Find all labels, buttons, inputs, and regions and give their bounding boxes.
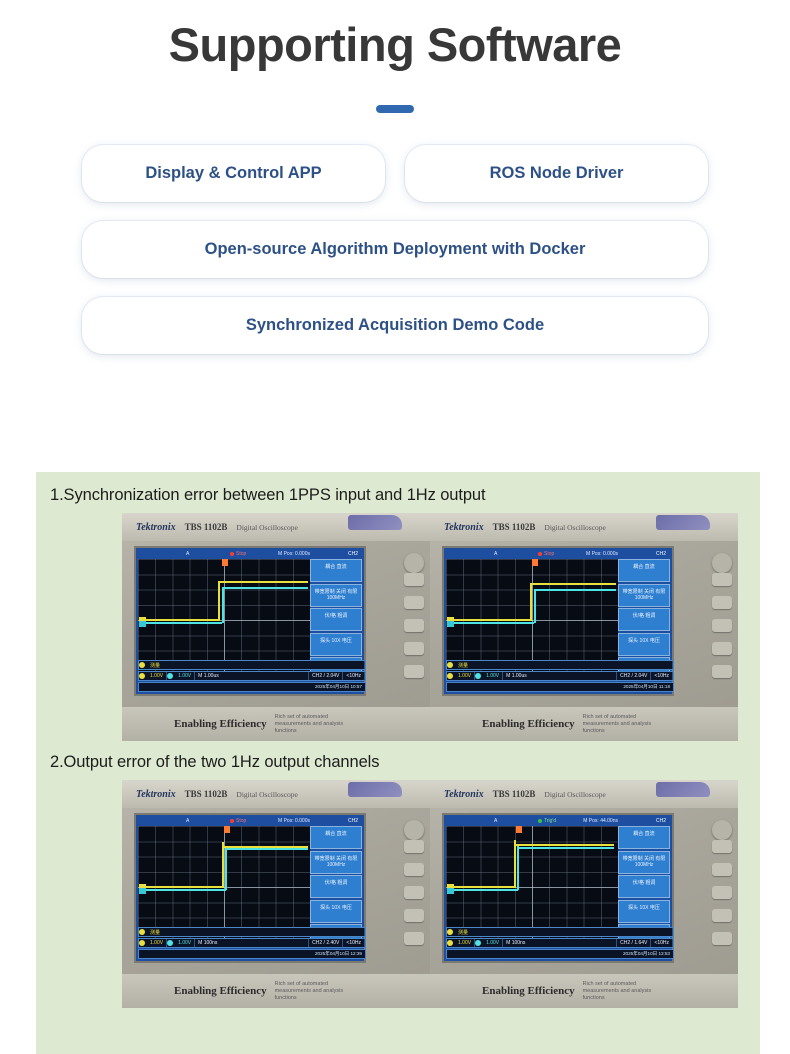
scope-screen-topbar: A Stop M Pos: 0.000s CH2 bbox=[138, 550, 362, 559]
scope-type-label: Digital Oscilloscope bbox=[236, 523, 297, 532]
ch1-trace-high bbox=[218, 581, 308, 583]
supporting-software-page: Supporting Software Display & Control AP… bbox=[0, 0, 790, 1054]
measure-label: 测量 bbox=[455, 661, 673, 669]
feature-card-row-1: Display & Control APP ROS Node Driver bbox=[82, 145, 708, 202]
timebase-value: M 1.00us bbox=[195, 672, 309, 680]
scope-datetime: 2025年04月10日 12:39 bbox=[138, 949, 366, 959]
scope-spec-badge bbox=[348, 515, 402, 530]
scope-menu-item[interactable]: 耦合 直流 bbox=[618, 559, 670, 582]
scope-tagline: Enabling Efficiency bbox=[174, 985, 267, 997]
page-title: Supporting Software bbox=[0, 18, 790, 72]
ch1-indicator-icon bbox=[139, 940, 145, 946]
scope-bezel-button[interactable] bbox=[404, 573, 424, 586]
feature-card-label: Synchronized Acquisition Demo Code bbox=[246, 316, 544, 335]
scope-screen-topbar: A Stop M Pos: 0.000s CH2 bbox=[446, 550, 670, 559]
ch1-volts-div: 1.00V bbox=[455, 939, 475, 947]
scope-bezel-top: Tektronix TBS 1102B Digital Oscilloscope bbox=[122, 513, 430, 541]
trigger-position-marker bbox=[516, 826, 522, 833]
scope-top-knob[interactable] bbox=[404, 553, 424, 573]
scope-screen: A Stop M Pos: 0.000s CH2 bbox=[442, 546, 674, 696]
trigger-status-icon bbox=[230, 819, 234, 823]
ch1-volts-div: 1.00V bbox=[147, 672, 167, 680]
scope-spec-badge bbox=[348, 782, 402, 797]
scope-status-bar: 测量 1.00V 1.00V M 100ns CH2 / 1.64V <10Hz bbox=[446, 927, 674, 959]
scope-button-column bbox=[686, 547, 732, 733]
measure-label: 测量 bbox=[455, 928, 673, 936]
scope-tagline: Enabling Efficiency bbox=[174, 718, 267, 730]
scope-button-column bbox=[378, 547, 424, 733]
ch2-indicator-icon bbox=[475, 673, 481, 679]
ch1-volts-div: 1.00V bbox=[455, 672, 475, 680]
trigger-frequency-value: <10Hz bbox=[343, 672, 365, 680]
ch1-indicator-icon bbox=[447, 673, 453, 679]
trigger-position-marker bbox=[224, 826, 230, 833]
ch2-ground-marker bbox=[447, 888, 454, 894]
scope-measure-row: 测量 bbox=[446, 660, 674, 670]
scope-bezel-button[interactable] bbox=[404, 642, 424, 655]
ch2-trace-low bbox=[454, 889, 518, 891]
section-heading-1: 1.Synchronization error between 1PPS inp… bbox=[36, 486, 760, 505]
ch2-trace-low bbox=[146, 622, 222, 624]
scope-bezel-button[interactable] bbox=[712, 573, 732, 586]
scope-type-label: Digital Oscilloscope bbox=[544, 523, 605, 532]
scope-menu-item[interactable]: 伏/格 粗调 bbox=[310, 875, 362, 898]
active-channel-tag: CH2 bbox=[348, 551, 358, 557]
scope-datetime: 2025年04月10日 11:18 bbox=[446, 682, 674, 692]
scope-a-marker: A bbox=[494, 551, 497, 557]
measure-label: 测量 bbox=[147, 928, 365, 936]
demo-results-panel: 1.Synchronization error between 1PPS inp… bbox=[36, 472, 760, 1054]
ch1-trace-high bbox=[530, 583, 616, 585]
scope-menu-item[interactable]: 伏/格 粗调 bbox=[310, 608, 362, 631]
scope-menu-item[interactable]: 探头 10X 电压 bbox=[618, 633, 670, 656]
horizontal-position-label: M Pos: 44.00ns bbox=[583, 818, 618, 824]
scope-bezel-button[interactable] bbox=[404, 596, 424, 609]
scope-screen: A Stop M Pos: 0.000s CH2 bbox=[134, 546, 366, 696]
ch2-indicator-icon bbox=[167, 940, 173, 946]
trigger-frequency-value: <10Hz bbox=[651, 939, 673, 947]
scope-bezel-top: Tektronix TBS 1102B Digital Oscilloscope bbox=[430, 513, 738, 541]
feature-card-display-control-app[interactable]: Display & Control APP bbox=[82, 145, 385, 202]
ch1-trace-high bbox=[514, 844, 614, 846]
trigger-source-value: CH2 / 1.64V bbox=[617, 939, 651, 947]
scope-bezel-button[interactable] bbox=[404, 840, 424, 853]
oscilloscope-photo-1: Tektronix TBS 1102B Digital Oscilloscope… bbox=[122, 513, 430, 741]
scope-menu-item[interactable]: 耦合 直流 bbox=[310, 559, 362, 582]
timebase-value: M 1.00us bbox=[503, 672, 617, 680]
scope-menu-item[interactable]: 伏/格 粗调 bbox=[618, 608, 670, 631]
ch2-indicator-icon bbox=[475, 940, 481, 946]
scope-bezel-button[interactable] bbox=[404, 863, 424, 876]
scope-measure-row: 测量 bbox=[138, 660, 366, 670]
ch2-volts-div: 1.00V bbox=[483, 939, 503, 947]
trigger-frequency-value: <10Hz bbox=[651, 672, 673, 680]
scope-type-label: Digital Oscilloscope bbox=[544, 790, 605, 799]
scope-menu-item[interactable]: 耦合 直流 bbox=[310, 826, 362, 849]
scope-screen: A Stop M Pos: 0.000s CH2 bbox=[134, 813, 366, 963]
scope-brand-label: Tektronix bbox=[444, 789, 484, 800]
scope-bezel-button[interactable] bbox=[404, 909, 424, 922]
feature-card-label: Display & Control APP bbox=[145, 164, 321, 183]
scope-menu-item[interactable]: 探头 10X 电压 bbox=[310, 900, 362, 923]
scope-menu-item[interactable]: 伏/格 粗调 bbox=[618, 875, 670, 898]
trigger-status-icon bbox=[538, 552, 542, 556]
ch2-volts-div: 1.00V bbox=[175, 672, 195, 680]
ch2-trace-high bbox=[225, 848, 308, 850]
scope-menu-item[interactable]: 带宽限制 关闭 有限 100MHz bbox=[310, 584, 362, 607]
scope-top-knob[interactable] bbox=[712, 553, 732, 573]
scope-bezel-button[interactable] bbox=[712, 909, 732, 922]
horizontal-position-label: M Pos: 0.000s bbox=[278, 818, 310, 824]
ch1-trace-low bbox=[454, 886, 516, 888]
active-channel-tag: CH2 bbox=[656, 551, 666, 557]
trigger-status-label: Trig'd bbox=[544, 818, 556, 824]
ch1-indicator-icon bbox=[139, 929, 145, 935]
feature-card-row-3: Synchronized Acquisition Demo Code bbox=[82, 297, 708, 354]
trigger-status-label: Stop bbox=[236, 818, 246, 824]
scope-status-bar: 测量 1.00V 1.00V M 1.00us CH2 / 2.04V <10H… bbox=[446, 660, 674, 692]
ch1-trace-edge bbox=[530, 583, 532, 621]
timebase-value: M 100ns bbox=[195, 939, 309, 947]
scope-a-marker: A bbox=[494, 818, 497, 824]
scope-button-column bbox=[686, 814, 732, 1000]
ch2-trace-high bbox=[222, 587, 308, 589]
scope-menu-item[interactable]: 带宽限制 关闭 有限 100MHz bbox=[618, 584, 670, 607]
ch2-trace-edge bbox=[534, 589, 536, 623]
scope-bezel-button[interactable] bbox=[404, 665, 424, 678]
scope-settings-row: 1.00V 1.00V M 100ns CH2 / 1.64V <10Hz bbox=[446, 938, 674, 948]
trigger-status-label: Stop bbox=[544, 551, 554, 557]
scope-a-marker: A bbox=[186, 818, 189, 824]
trigger-position-marker bbox=[532, 559, 538, 566]
ch1-indicator-icon bbox=[139, 662, 145, 668]
ch2-trace-edge bbox=[517, 846, 519, 890]
ch1-trace-edge bbox=[222, 842, 224, 888]
trigger-status-icon bbox=[538, 819, 542, 823]
scope-settings-row: 1.00V 1.00V M 1.00us CH2 / 2.04V <10Hz bbox=[138, 671, 366, 681]
scope-bezel-bottom: Enabling Efficiency Rich set of automate… bbox=[122, 974, 430, 1008]
scope-bezel-button[interactable] bbox=[712, 863, 732, 876]
scope-settings-row: 1.00V 1.00V M 1.00us CH2 / 2.04V <10Hz bbox=[446, 671, 674, 681]
scope-measure-row: 测量 bbox=[138, 927, 366, 937]
scope-bezel-button[interactable] bbox=[712, 932, 732, 945]
scope-bezel-top: Tektronix TBS 1102B Digital Oscilloscope bbox=[430, 780, 738, 808]
trigger-status-label: Stop bbox=[236, 551, 246, 557]
ch2-trace-high bbox=[534, 589, 616, 591]
scope-screen: A Trig'd M Pos: 44.00ns CH2 bbox=[442, 813, 674, 963]
trigger-position-marker bbox=[222, 559, 228, 566]
scope-a-marker: A bbox=[186, 551, 189, 557]
ch2-volts-div: 1.00V bbox=[175, 939, 195, 947]
timebase-value: M 100ns bbox=[503, 939, 617, 947]
ch2-trace-low bbox=[454, 622, 534, 624]
oscilloscope-photo-3: Tektronix TBS 1102B Digital Oscilloscope… bbox=[122, 780, 430, 1008]
scope-bezel-button[interactable] bbox=[712, 840, 732, 853]
scope-bezel-button[interactable] bbox=[712, 886, 732, 899]
trigger-status-icon bbox=[230, 552, 234, 556]
scope-top-knob[interactable] bbox=[712, 820, 732, 840]
scope-bezel-bottom: Enabling Efficiency Rich set of automate… bbox=[122, 707, 430, 741]
scope-photo-row-2: Tektronix TBS 1102B Digital Oscilloscope… bbox=[36, 780, 760, 1008]
ch2-volts-div: 1.00V bbox=[483, 672, 503, 680]
scope-bezel-bottom: Enabling Efficiency Rich set of automate… bbox=[430, 974, 738, 1008]
ch2-ground-marker bbox=[139, 888, 146, 894]
scope-menu-item[interactable]: 带宽限制 关闭 有限 100MHz bbox=[618, 851, 670, 874]
trigger-frequency-value: <10Hz bbox=[343, 939, 365, 947]
ch1-trace-edge bbox=[218, 581, 220, 621]
ch2-trace-edge bbox=[225, 848, 227, 890]
scope-bezel-button[interactable] bbox=[404, 932, 424, 945]
scope-menu-item[interactable]: 带宽限制 关闭 有限 100MHz bbox=[310, 851, 362, 874]
ch2-ground-marker bbox=[447, 621, 454, 627]
feature-card-docker-deployment[interactable]: Open-source Algorithm Deployment with Do… bbox=[82, 221, 708, 278]
scope-status-bar: 测量 1.00V 1.00V M 100ns CH2 / 2.40V <10Hz bbox=[138, 927, 366, 959]
scope-bezel-bottom: Enabling Efficiency Rich set of automate… bbox=[430, 707, 738, 741]
scope-brand-label: Tektronix bbox=[136, 789, 176, 800]
ch1-indicator-icon bbox=[447, 940, 453, 946]
scope-model-label: TBS 1102B bbox=[493, 789, 536, 799]
horizontal-position-label: M Pos: 0.000s bbox=[586, 551, 618, 557]
feature-card-row-2: Open-source Algorithm Deployment with Do… bbox=[82, 221, 708, 278]
scope-type-label: Digital Oscilloscope bbox=[236, 790, 297, 799]
scope-subtagline: Rich set of automated measurements and a… bbox=[583, 981, 673, 1002]
scope-photo-row-1: Tektronix TBS 1102B Digital Oscilloscope… bbox=[36, 513, 760, 741]
ch1-indicator-icon bbox=[447, 929, 453, 935]
scope-button-column bbox=[378, 814, 424, 1000]
scope-screen-topbar: A Stop M Pos: 0.000s CH2 bbox=[138, 817, 362, 826]
scope-spec-badge bbox=[656, 782, 710, 797]
ch2-trace-high bbox=[517, 847, 614, 849]
scope-spec-badge bbox=[656, 515, 710, 530]
scope-tagline: Enabling Efficiency bbox=[482, 985, 575, 997]
ch2-ground-marker bbox=[139, 621, 146, 627]
section-heading-2: 2.Output error of the two 1Hz output cha… bbox=[36, 753, 760, 772]
scope-menu-item[interactable]: 耦合 直流 bbox=[618, 826, 670, 849]
ch1-indicator-icon bbox=[139, 673, 145, 679]
ch2-trace-low bbox=[146, 889, 226, 891]
scope-bezel-button[interactable] bbox=[404, 886, 424, 899]
scope-bezel-top: Tektronix TBS 1102B Digital Oscilloscope bbox=[122, 780, 430, 808]
scope-bezel-button[interactable] bbox=[712, 642, 732, 655]
scope-top-knob[interactable] bbox=[404, 820, 424, 840]
scope-tagline: Enabling Efficiency bbox=[482, 718, 575, 730]
scope-settings-row: 1.00V 1.00V M 100ns CH2 / 2.40V <10Hz bbox=[138, 938, 366, 948]
title-accent-bar bbox=[376, 105, 414, 113]
scope-subtagline: Rich set of automated measurements and a… bbox=[583, 714, 673, 735]
scope-datetime: 2025年04月10日 10:57 bbox=[138, 682, 366, 692]
horizontal-position-label: M Pos: 0.000s bbox=[278, 551, 310, 557]
feature-card-list: Display & Control APP ROS Node Driver Op… bbox=[0, 145, 790, 354]
ch1-trace-low bbox=[146, 619, 220, 621]
scope-measure-row: 测量 bbox=[446, 927, 674, 937]
scope-status-bar: 测量 1.00V 1.00V M 1.00us CH2 / 2.04V <10H… bbox=[138, 660, 366, 692]
scope-model-label: TBS 1102B bbox=[493, 522, 536, 532]
scope-model-label: TBS 1102B bbox=[185, 789, 228, 799]
scope-menu-item[interactable]: 探头 10X 电压 bbox=[618, 900, 670, 923]
scope-bezel-button[interactable] bbox=[404, 619, 424, 632]
feature-card-ros-node-driver[interactable]: ROS Node Driver bbox=[405, 145, 708, 202]
ch1-trace-low bbox=[454, 619, 532, 621]
oscilloscope-photo-2: Tektronix TBS 1102B Digital Oscilloscope… bbox=[430, 513, 738, 741]
ch2-indicator-icon bbox=[167, 673, 173, 679]
scope-subtagline: Rich set of automated measurements and a… bbox=[275, 714, 365, 735]
scope-menu-item[interactable]: 探头 10X 电压 bbox=[310, 633, 362, 656]
ch1-indicator-icon bbox=[447, 662, 453, 668]
feature-card-label: ROS Node Driver bbox=[490, 164, 624, 183]
scope-bezel-button[interactable] bbox=[712, 665, 732, 678]
scope-model-label: TBS 1102B bbox=[185, 522, 228, 532]
ch2-trace-edge bbox=[222, 587, 224, 623]
active-channel-tag: CH2 bbox=[656, 818, 666, 824]
measure-label: 测量 bbox=[147, 661, 365, 669]
active-channel-tag: CH2 bbox=[348, 818, 358, 824]
ch1-trace-edge bbox=[514, 840, 516, 888]
ch1-volts-div: 1.00V bbox=[147, 939, 167, 947]
scope-bezel-button[interactable] bbox=[712, 619, 732, 632]
scope-screen-topbar: A Trig'd M Pos: 44.00ns CH2 bbox=[446, 817, 670, 826]
oscilloscope-photo-4: Tektronix TBS 1102B Digital Oscilloscope… bbox=[430, 780, 738, 1008]
feature-card-sync-acquisition-demo[interactable]: Synchronized Acquisition Demo Code bbox=[82, 297, 708, 354]
trigger-source-value: CH2 / 2.04V bbox=[309, 672, 343, 680]
feature-card-label: Open-source Algorithm Deployment with Do… bbox=[205, 240, 586, 259]
scope-subtagline: Rich set of automated measurements and a… bbox=[275, 981, 365, 1002]
scope-brand-label: Tektronix bbox=[136, 522, 176, 533]
scope-datetime: 2025年04月10日 13:53 bbox=[446, 949, 674, 959]
scope-brand-label: Tektronix bbox=[444, 522, 484, 533]
ch1-trace-low bbox=[146, 886, 224, 888]
trigger-source-value: CH2 / 2.40V bbox=[309, 939, 343, 947]
page-header: Supporting Software bbox=[0, 0, 790, 113]
trigger-source-value: CH2 / 2.04V bbox=[617, 672, 651, 680]
scope-bezel-button[interactable] bbox=[712, 596, 732, 609]
